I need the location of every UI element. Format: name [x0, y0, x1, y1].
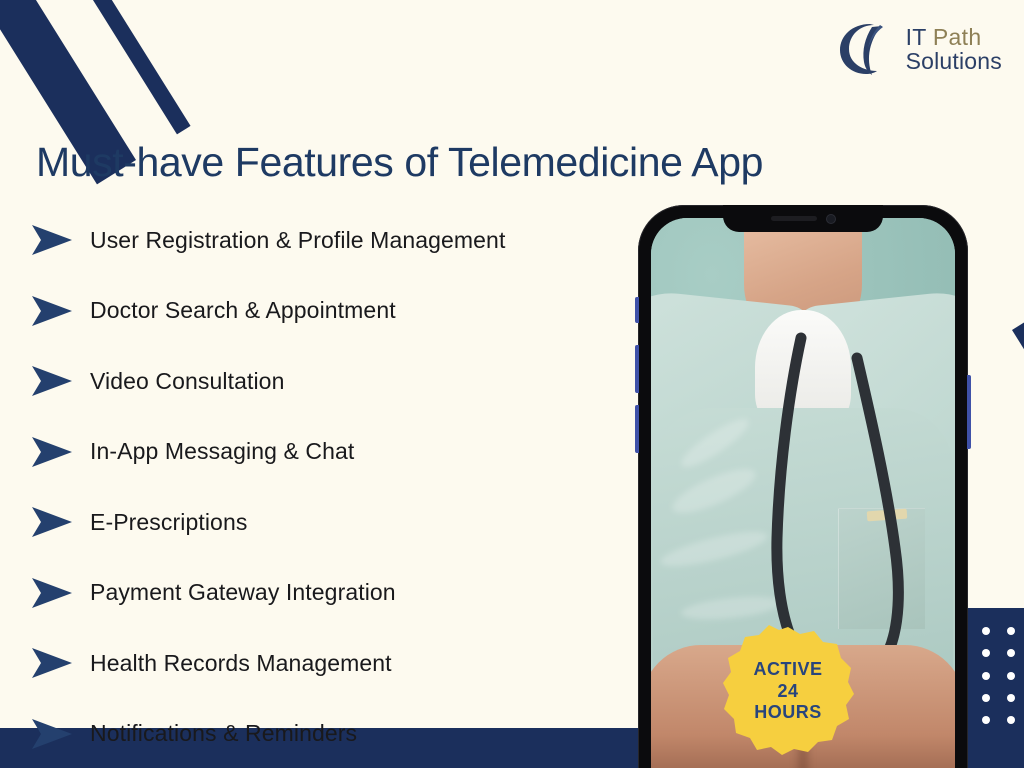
arrow-bullet-icon [30, 435, 74, 469]
badge-line-1: ACTIVE [753, 660, 822, 679]
grid-dot [982, 649, 990, 657]
arrow-bullet-icon [30, 294, 74, 328]
grid-dot [982, 739, 990, 747]
list-item: Health Records Management [30, 628, 630, 699]
badge-line-2: 24 [777, 682, 798, 701]
grid-dot [982, 694, 990, 702]
list-item: User Registration & Profile Management [30, 205, 630, 276]
feature-label: Notifications & Reminders [90, 720, 357, 747]
grid-dot [1007, 627, 1015, 635]
infographic-poster: IT Path Solutions Must-have Features of … [0, 0, 1024, 768]
it-path-solutions-logo-mark-icon [836, 18, 898, 80]
arrow-bullet-icon [30, 576, 74, 610]
feature-label: Video Consultation [90, 368, 284, 395]
list-item: Doctor Search & Appointment [30, 276, 630, 347]
grid-dot [982, 627, 990, 635]
feature-label: In-App Messaging & Chat [90, 438, 354, 465]
feature-label: Health Records Management [90, 650, 392, 677]
grid-dot [1007, 649, 1015, 657]
logo-text-it: IT [906, 24, 933, 50]
badge-line-3: HOURS [754, 703, 822, 722]
page-title: Must-have Features of Telemedicine App [36, 139, 996, 186]
phone-notch [723, 205, 883, 232]
logo-text-solutions: Solutions [906, 49, 1002, 73]
grid-dot [1007, 694, 1015, 702]
front-camera-icon [827, 215, 835, 223]
feature-list: User Registration & Profile Management D… [30, 205, 630, 768]
arrow-bullet-icon [30, 646, 74, 680]
top-left-diagonal-stripe-thin [18, 0, 191, 134]
list-item: In-App Messaging & Chat [30, 417, 630, 488]
feature-label: Payment Gateway Integration [90, 579, 396, 606]
logo-wordmark: IT Path Solutions [906, 25, 1002, 74]
phone-volume-up-button[interactable] [635, 345, 639, 393]
badge-text: ACTIVE 24 HOURS [722, 625, 854, 757]
grid-dot [982, 672, 990, 680]
arrow-bullet-icon [30, 717, 74, 751]
phone-power-button[interactable] [967, 375, 971, 449]
feature-label: Doctor Search & Appointment [90, 297, 396, 324]
logo-text-path: Path [933, 24, 982, 50]
earpiece-speaker-icon [771, 216, 817, 221]
arrow-bullet-icon [30, 223, 74, 257]
arrow-bullet-icon [30, 364, 74, 398]
list-item: Video Consultation [30, 346, 630, 417]
phone-silent-switch[interactable] [635, 297, 639, 323]
grid-dot [1007, 739, 1015, 747]
grid-dot [1007, 716, 1015, 724]
list-item: E-Prescriptions [30, 487, 630, 558]
list-item: Payment Gateway Integration [30, 558, 630, 629]
brand-logo: IT Path Solutions [836, 18, 1002, 80]
list-item: Notifications & Reminders [30, 699, 630, 768]
phone-volume-down-button[interactable] [635, 405, 639, 453]
grid-dot [1007, 672, 1015, 680]
arrow-bullet-icon [30, 505, 74, 539]
feature-label: User Registration & Profile Management [90, 227, 505, 254]
status-badge: ACTIVE 24 HOURS [722, 625, 854, 757]
feature-label: E-Prescriptions [90, 509, 247, 536]
grid-dot [982, 716, 990, 724]
right-diagonal-stripe-1 [1012, 302, 1024, 609]
